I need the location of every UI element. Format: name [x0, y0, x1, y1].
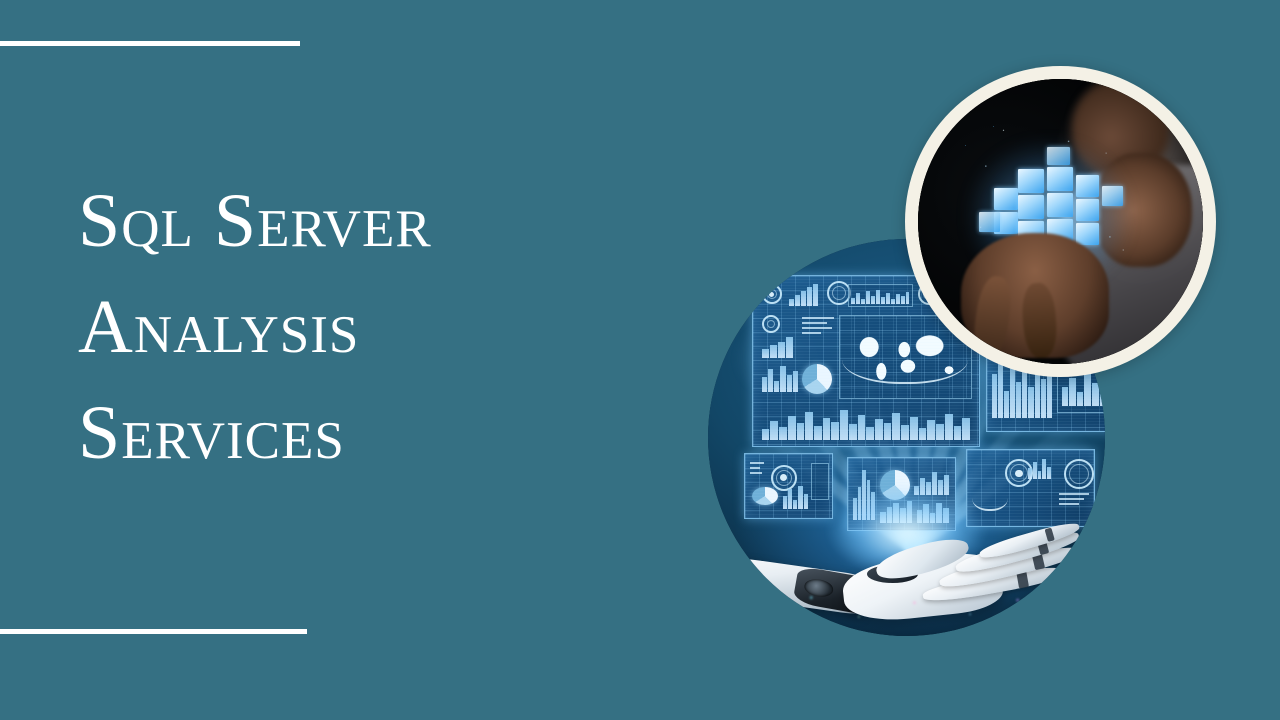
gauge-dial-icon [762, 284, 782, 304]
compass-dial-icon [827, 281, 851, 305]
top-accent-rule [0, 41, 300, 46]
title-line-2: Analysis [78, 274, 638, 380]
histogram-chart [762, 364, 798, 391]
title-line-1: Sql Server [78, 168, 638, 274]
page-title: Sql Server Analysis Services [78, 168, 638, 486]
mini-bar-chart [789, 284, 818, 306]
pie-chart [802, 364, 832, 394]
title-line-3: Services [78, 380, 638, 486]
column-bar-chart [762, 337, 794, 357]
small-photo-inner [918, 79, 1203, 364]
hand-holding-blue-data-cube-photo [905, 66, 1216, 377]
city-lights [708, 572, 1105, 636]
status-dial-icon [762, 315, 780, 333]
waveform-readout [848, 284, 913, 306]
bottom-accent-rule [0, 629, 307, 634]
legend-lines [802, 317, 834, 337]
human-hand [961, 233, 1109, 358]
bottom-bar-chart [762, 405, 970, 439]
waveform-bars [851, 289, 909, 304]
presentation-slide: Sql Server Analysis Services [0, 0, 1280, 720]
